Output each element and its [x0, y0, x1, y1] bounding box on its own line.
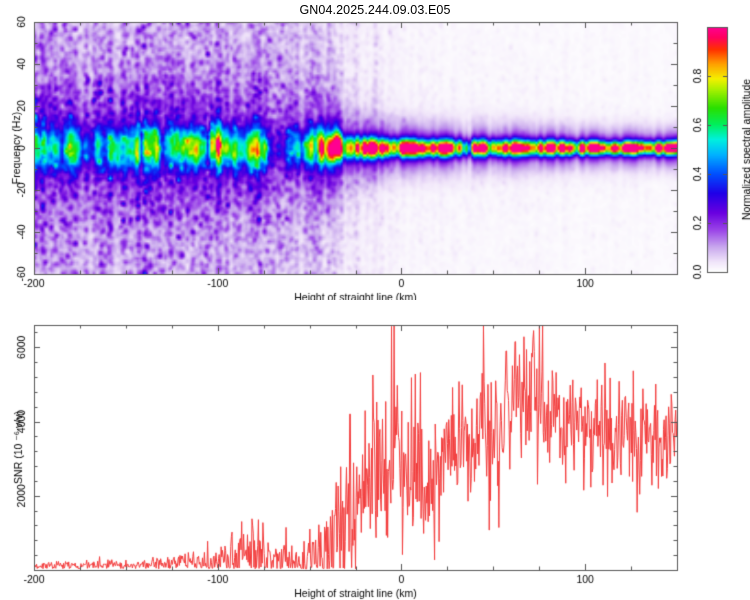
figure-root: GN04.2025.244.09.03.E05 Height of straig…	[0, 0, 750, 600]
snr-panel	[0, 300, 750, 600]
spectrogram-panel	[0, 0, 750, 300]
snr-canvas	[0, 300, 750, 600]
spectrogram-canvas	[0, 0, 750, 300]
